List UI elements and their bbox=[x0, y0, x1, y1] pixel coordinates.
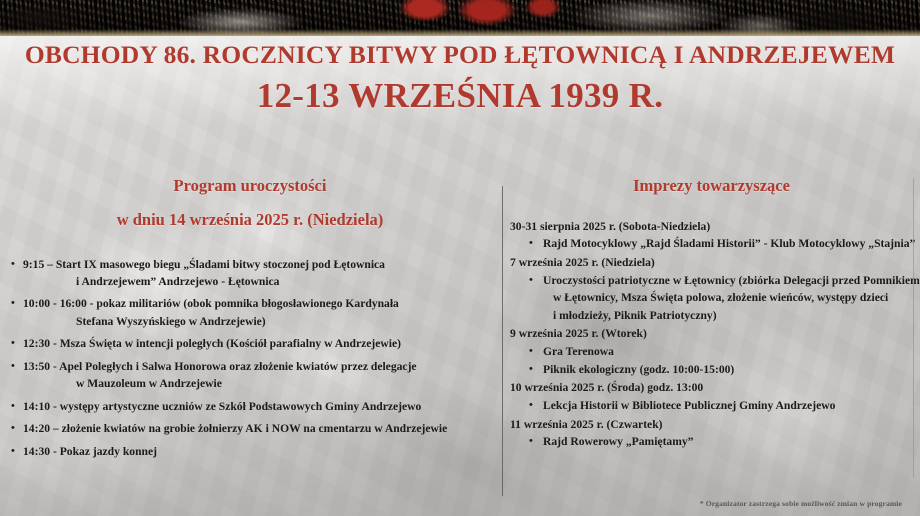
event-text-continuation: w Łętownicy, Msza Święta polowa, złożeni… bbox=[543, 289, 920, 307]
list-item: 9:15 – Start IX masowego biegu „Śladami … bbox=[0, 256, 500, 290]
event-text: Uroczystości patriotyczne w Łętownicy (z… bbox=[543, 274, 920, 287]
list-item: 14:20 – złożenie kwiatów na grobie żołni… bbox=[0, 420, 500, 437]
program-list: 9:15 – Start IX masowego biegu „Śladami … bbox=[0, 256, 500, 461]
list-item: Uroczystości patriotyczne w Łętownicy (z… bbox=[503, 272, 920, 325]
event-group-list: Rajd Rowerowy „Pamiętamy” bbox=[503, 433, 920, 451]
program-item-text: 12:30 - Msza Święta w intencji poległych… bbox=[23, 337, 401, 350]
event-group: 10 września 2025 r. (Środa) godz. 13:00 … bbox=[503, 379, 920, 414]
event-group-list: Lekcja Historii w Bibliotece Publicznej … bbox=[503, 397, 920, 415]
list-item: Lekcja Historii w Bibliotece Publicznej … bbox=[503, 397, 920, 415]
event-group-list: Gra Terenowa Piknik ekologiczny (godz. 1… bbox=[503, 343, 920, 378]
program-heading-date: w dniu 14 września 2025 r. (Niedziela) bbox=[0, 210, 500, 230]
list-item: Rajd Motocyklowy „Rajd Śladami Historii”… bbox=[503, 235, 920, 253]
disclaimer-footnote: * Organizator zastrzega sobie możliwość … bbox=[700, 499, 902, 508]
program-item-text: 13:50 - Apel Poległych i Salwa Honorowa … bbox=[23, 360, 417, 373]
event-group-date: 7 września 2025 r. (Niedziela) bbox=[503, 254, 920, 272]
list-item: 13:50 - Apel Poległych i Salwa Honorowa … bbox=[0, 358, 500, 392]
event-text-continuation-2: i młodzieży, Piknik Patriotyczny) bbox=[543, 307, 920, 325]
program-item-continuation: w Mauzoleum w Andrzejewie bbox=[23, 375, 500, 392]
event-text: Rajd Motocyklowy „Rajd Śladami Historii”… bbox=[543, 237, 915, 250]
header-banner-image bbox=[0, 0, 920, 36]
event-group-date: 10 września 2025 r. (Środa) godz. 13:00 bbox=[503, 379, 920, 397]
list-item: Piknik ekologiczny (godz. 10:00-15:00) bbox=[503, 361, 920, 379]
event-poster: OBCHODY 86. ROCZNICY BITWY POD ŁĘTOWNICĄ… bbox=[0, 0, 920, 516]
program-heading-title: Program uroczystości bbox=[0, 176, 500, 196]
program-item-continuation: i Andrzejewem” Andrzejewo - Łętownica bbox=[23, 273, 500, 290]
event-group-date: 9 września 2025 r. (Wtorek) bbox=[503, 325, 920, 343]
event-text: Lekcja Historii w Bibliotece Publicznej … bbox=[543, 399, 835, 412]
program-item-text: 9:15 – Start IX masowego biegu „Śladami … bbox=[23, 258, 385, 271]
program-column: Program uroczystości w dniu 14 września … bbox=[0, 168, 500, 516]
list-item: 14:10 - występy artystyczne uczniów ze S… bbox=[0, 398, 500, 415]
list-item: 14:30 - Pokaz jazdy konnej bbox=[0, 443, 500, 460]
poster-title-primary: OBCHODY 86. ROCZNICY BITWY POD ŁĘTOWNICĄ… bbox=[0, 40, 920, 69]
event-text: Rajd Rowerowy „Pamiętamy” bbox=[543, 435, 693, 448]
event-group: 30-31 sierpnia 2025 r. (Sobota-Niedziela… bbox=[503, 218, 920, 253]
event-group-list: Uroczystości patriotyczne w Łętownicy (z… bbox=[503, 272, 920, 325]
event-group: 7 września 2025 r. (Niedziela) Uroczysto… bbox=[503, 254, 920, 324]
event-group-date: 30-31 sierpnia 2025 r. (Sobota-Niedziela… bbox=[503, 218, 920, 236]
program-item-text: 14:30 - Pokaz jazdy konnej bbox=[23, 445, 157, 458]
event-group: 11 września 2025 r. (Czwartek) Rajd Rowe… bbox=[503, 416, 920, 451]
event-group: 9 września 2025 r. (Wtorek) Gra Terenowa… bbox=[503, 325, 920, 378]
event-text: Piknik ekologiczny (godz. 10:00-15:00) bbox=[543, 363, 734, 376]
program-item-text: 10:00 - 16:00 - pokaz militariów (obok p… bbox=[23, 297, 399, 310]
accompanying-events-groups: 30-31 sierpnia 2025 r. (Sobota-Niedziela… bbox=[503, 218, 920, 451]
program-item-text: 14:10 - występy artystyczne uczniów ze S… bbox=[23, 400, 421, 413]
list-item: 12:30 - Msza Święta w intencji poległych… bbox=[0, 335, 500, 352]
event-group-date: 11 września 2025 r. (Czwartek) bbox=[503, 416, 920, 434]
banner-ground-strip bbox=[0, 29, 920, 36]
accompanying-events-heading: Imprezy towarzyszące bbox=[503, 176, 920, 196]
list-item: Gra Terenowa bbox=[503, 343, 920, 361]
accompanying-events-column: Imprezy towarzyszące 30-31 sierpnia 2025… bbox=[503, 168, 920, 516]
event-group-list: Rajd Motocyklowy „Rajd Śladami Historii”… bbox=[503, 235, 920, 253]
event-text: Gra Terenowa bbox=[543, 345, 614, 358]
list-item: 10:00 - 16:00 - pokaz militariów (obok p… bbox=[0, 295, 500, 329]
poster-title-block: OBCHODY 86. ROCZNICY BITWY POD ŁĘTOWNICĄ… bbox=[0, 40, 920, 116]
program-item-text: 14:20 – złożenie kwiatów na grobie żołni… bbox=[23, 422, 447, 435]
poster-title-dates: 12-13 WRZEŚNIA 1939 R. bbox=[0, 77, 920, 116]
right-edge-rule bbox=[913, 178, 914, 478]
list-item: Rajd Rowerowy „Pamiętamy” bbox=[503, 433, 920, 451]
content-columns: Program uroczystości w dniu 14 września … bbox=[0, 168, 920, 516]
program-item-continuation: Stefana Wyszyńskiego w Andrzejewie) bbox=[23, 313, 500, 330]
